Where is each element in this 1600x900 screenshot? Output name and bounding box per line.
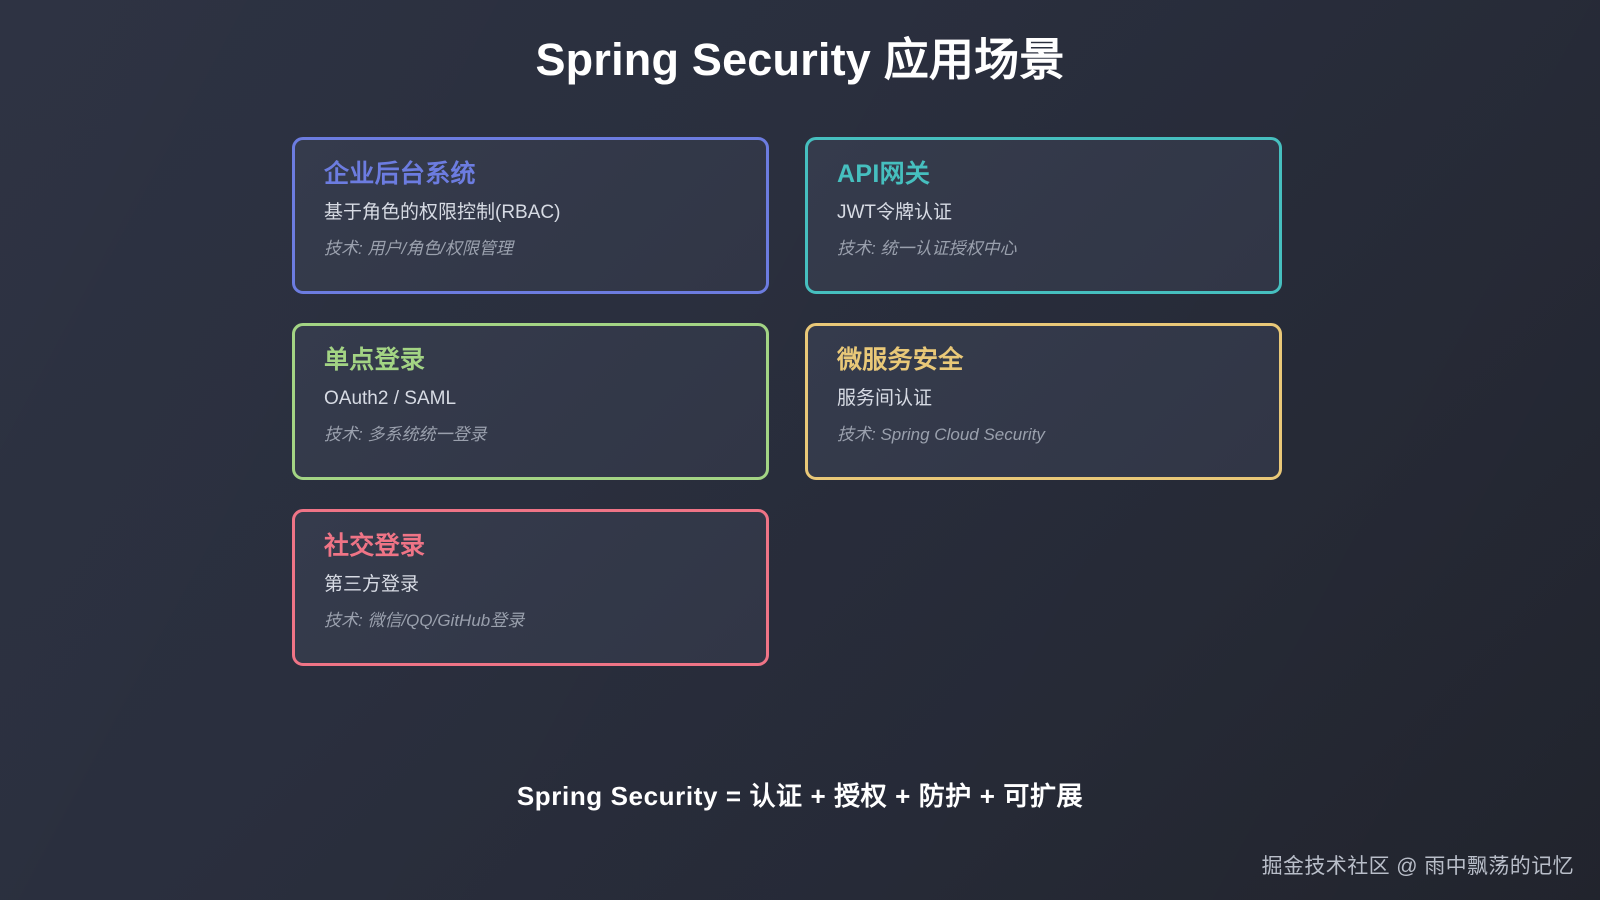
scenario-card-single-sign-on: 单点登录 OAuth2 / SAML 技术: 多系统统一登录 xyxy=(292,323,769,480)
card-title: API网关 xyxy=(837,161,1250,189)
summary-formula: Spring Security = 认证 + 授权 + 防护 + 可扩展 xyxy=(0,776,1600,813)
scenario-card-grid: 企业后台系统 基于角色的权限控制(RBAC) 技术: 用户/角色/权限管理 AP… xyxy=(292,137,1282,666)
card-tech-note: 技术: 微信/QQ/GitHub登录 xyxy=(324,611,737,631)
card-title: 企业后台系统 xyxy=(324,161,737,189)
slide-canvas: Spring Security 应用场景 企业后台系统 基于角色的权限控制(RB… xyxy=(0,0,1600,900)
card-description: OAuth2 / SAML xyxy=(324,388,737,411)
card-description: 第三方登录 xyxy=(324,574,737,597)
scenario-card-api-gateway: API网关 JWT令牌认证 技术: 统一认证授权中心 xyxy=(805,137,1282,294)
card-description: 服务间认证 xyxy=(837,388,1250,411)
watermark-credit: 掘金技术社区 @ 雨中飘荡的记忆 xyxy=(1262,850,1574,880)
scenario-card-social-login: 社交登录 第三方登录 技术: 微信/QQ/GitHub登录 xyxy=(292,509,769,666)
card-tech-note: 技术: Spring Cloud Security xyxy=(837,425,1250,445)
card-description: 基于角色的权限控制(RBAC) xyxy=(324,202,737,225)
card-title: 社交登录 xyxy=(324,533,737,561)
card-title: 微服务安全 xyxy=(837,347,1250,375)
card-description: JWT令牌认证 xyxy=(837,202,1250,225)
card-tech-note: 技术: 多系统统一登录 xyxy=(324,425,737,445)
card-title: 单点登录 xyxy=(324,347,737,375)
scenario-card-enterprise-admin: 企业后台系统 基于角色的权限控制(RBAC) 技术: 用户/角色/权限管理 xyxy=(292,137,769,294)
page-title: Spring Security 应用场景 xyxy=(0,32,1600,88)
card-tech-note: 技术: 用户/角色/权限管理 xyxy=(324,239,737,259)
card-tech-note: 技术: 统一认证授权中心 xyxy=(837,239,1250,259)
scenario-card-microservice-security: 微服务安全 服务间认证 技术: Spring Cloud Security xyxy=(805,323,1282,480)
